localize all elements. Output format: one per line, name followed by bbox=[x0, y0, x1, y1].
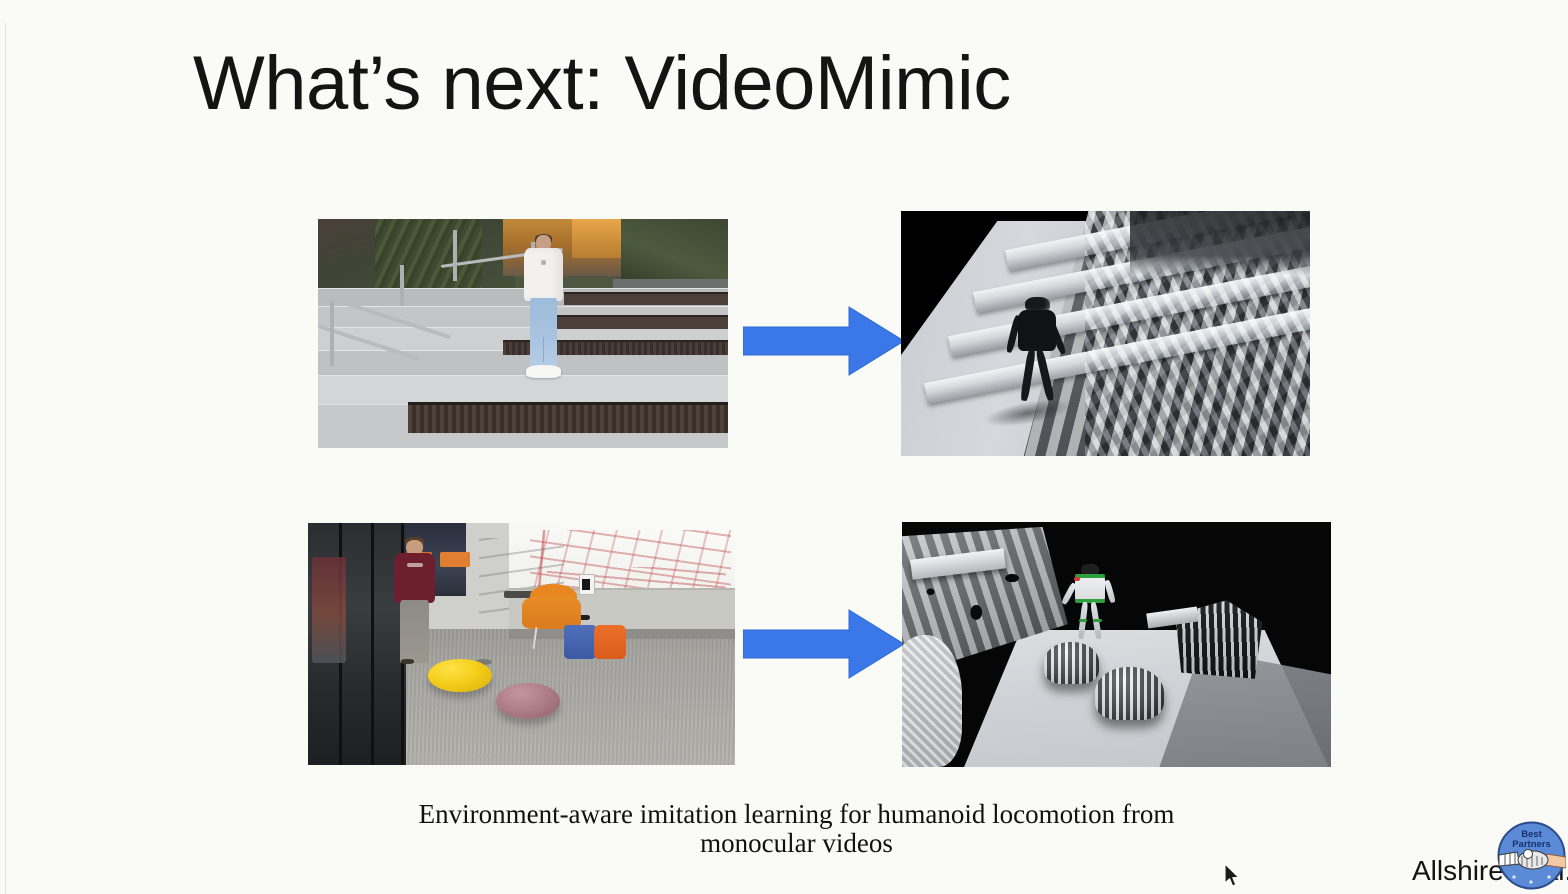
humanoid-robot-light bbox=[1069, 564, 1112, 647]
transform-arrow-bottom bbox=[743, 608, 905, 680]
mesh-shadow-region bbox=[1130, 211, 1310, 275]
person-shoe bbox=[401, 659, 414, 663]
robot-leg-right bbox=[1035, 348, 1054, 400]
caption-line-2: monocular videos bbox=[334, 829, 1259, 858]
simulated-hallway-reconstruction bbox=[902, 522, 1331, 767]
person-on-stairs bbox=[521, 235, 566, 379]
pink-ottoman bbox=[496, 683, 560, 719]
robot-accent-knee-right bbox=[1093, 619, 1102, 622]
person-pants bbox=[400, 600, 429, 663]
real-world-stairs-video bbox=[318, 219, 728, 448]
mouse-pointer bbox=[1225, 864, 1243, 890]
robot-accent-red-chest bbox=[1074, 577, 1079, 581]
stairs-mesh-scene bbox=[901, 211, 1310, 456]
page-title: What’s next: VideoMimic bbox=[193, 44, 1011, 124]
person-jeans bbox=[530, 298, 557, 367]
stairs-photo-scene bbox=[318, 219, 728, 448]
glass-reflection bbox=[312, 557, 346, 663]
presentation-slide: What’s next: VideoMimic bbox=[0, 0, 1568, 894]
robot-accent-knee-left bbox=[1079, 619, 1088, 622]
caption-line-1: Environment-aware imitation learning for… bbox=[334, 800, 1259, 829]
simulated-stairs-reconstruction bbox=[901, 211, 1310, 456]
arrow-right-icon bbox=[743, 608, 905, 680]
svg-text:Partners: Partners bbox=[1512, 839, 1551, 850]
rail-post-2 bbox=[400, 265, 404, 306]
robot-torso bbox=[1018, 310, 1056, 351]
hallway-photo-scene bbox=[308, 523, 735, 765]
best-partners-badge: Best Partners bbox=[1497, 821, 1566, 890]
orange-bin bbox=[594, 625, 626, 659]
far-chair-2 bbox=[440, 552, 470, 567]
jeans-inseam bbox=[543, 337, 544, 363]
stair-tread-5 bbox=[318, 375, 728, 406]
mesh-ottoman-2 bbox=[1095, 667, 1164, 721]
person-shoes bbox=[526, 365, 560, 378]
transform-arrow-top bbox=[743, 305, 905, 377]
yellow-ottoman bbox=[428, 659, 492, 693]
grate-slab bbox=[408, 402, 728, 432]
hallway-mesh-scene bbox=[902, 522, 1331, 767]
hoodie-graphic bbox=[407, 563, 423, 567]
person-sweatshirt bbox=[524, 248, 564, 301]
arrow-right-icon bbox=[743, 305, 905, 377]
ivy-wall bbox=[375, 219, 482, 288]
hedge-right bbox=[621, 219, 728, 288]
person-in-hallway bbox=[393, 540, 436, 666]
mesh-foreground-blob bbox=[902, 635, 962, 767]
wall-outlet-socket bbox=[582, 579, 590, 590]
left-edge-rule bbox=[5, 22, 6, 894]
rail-post-1 bbox=[330, 301, 334, 365]
handshake-icon: Best Partners bbox=[1497, 821, 1566, 890]
humanoid-robot-dark bbox=[1011, 297, 1064, 410]
robot-leg-left bbox=[1020, 348, 1036, 400]
robot-accent-shoulder bbox=[1075, 574, 1105, 577]
blue-bin bbox=[564, 625, 596, 659]
glass-mullion-2 bbox=[371, 523, 374, 765]
bench-slab-2 bbox=[544, 315, 729, 328]
rail-post-3 bbox=[453, 230, 457, 280]
figure-caption: Environment-aware imitation learning for… bbox=[334, 800, 1259, 858]
person-hoodie bbox=[394, 553, 435, 603]
bench-slab-1 bbox=[564, 292, 728, 304]
cursor-arrow-icon bbox=[1225, 864, 1243, 890]
real-world-hallway-video bbox=[308, 523, 735, 765]
mesh-ottoman-1 bbox=[1044, 642, 1100, 684]
sweatshirt-graphic bbox=[541, 260, 546, 265]
